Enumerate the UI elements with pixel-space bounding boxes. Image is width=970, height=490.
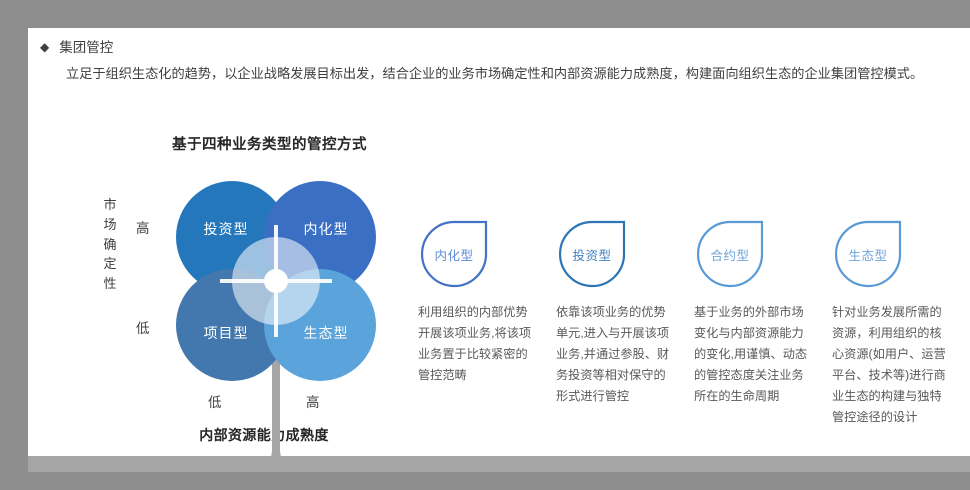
type-card[interactable]: 合约型 基于业务的外部市场变化与内部资源能力的变化,用谨慎、动态的管控态度关注业… [686,218,812,428]
quadrant-chart: 基于四种业务类型的管控方式 市场确定性 高 低 低 高 内部资源能力成熟度 投资… [88,133,408,468]
teardrop-badge[interactable]: 生态型 [832,218,904,290]
x-axis-label: 内部资源能力成熟度 [154,425,374,445]
x-tick-low: 低 [208,391,222,411]
section-heading: ◆ 集团管控 [40,38,952,58]
type-card-description: 利用组织的内部优势开展该项业务,将该项业务置于比较紧密的管控范畴 [418,302,536,386]
teardrop-badge[interactable]: 内化型 [418,218,490,290]
quadrant-label-tl: 投资型 [204,219,249,239]
section-heading-label: 集团管控 [59,38,113,58]
center-hub [264,269,288,293]
quadrant-flower: 投资型 内化型 项目型 生态型 [176,181,376,381]
quadrant-label-tr: 内化型 [304,219,349,239]
type-card[interactable]: 投资型 依靠该项业务的优势单元,进入与开展该项业务,并通过参股、财务投资等相对保… [548,218,674,428]
type-card-description: 依靠该项业务的优势单元,进入与开展该项业务,并通过参股、财务投资等相对保守的形式… [556,302,674,407]
quadrant-label-bl: 项目型 [204,323,249,343]
chart-title: 基于四种业务类型的管控方式 [172,133,412,154]
slide-floor-band [28,456,970,472]
slide-canvas: ◆ 集团管控 立足于组织生态化的趋势，以企业战略发展目标出发，结合企业的业务市场… [0,0,970,490]
type-card[interactable]: 内化型 利用组织的内部优势开展该项业务,将该项业务置于比较紧密的管控范畴 [410,218,536,428]
type-card-description: 基于业务的外部市场变化与内部资源能力的变化,用谨慎、动态的管控态度关注业务所在的… [694,302,812,407]
teardrop-label: 生态型 [832,218,904,290]
type-card[interactable]: 生态型 针对业务发展所需的资源，利用组织的核心资源(如用户、运营平台、技术等)进… [824,218,950,428]
slide-surface: ◆ 集团管控 立足于组织生态化的趋势，以企业战略发展目标出发，结合企业的业务市场… [28,28,970,472]
diamond-bullet-icon: ◆ [40,38,49,56]
header-block: ◆ 集团管控 立足于组织生态化的趋势，以企业战略发展目标出发，结合企业的业务市场… [40,38,952,86]
teardrop-label: 内化型 [418,218,490,290]
x-tick-high: 高 [306,391,320,411]
y-tick-high: 高 [136,217,150,237]
y-axis-label: 市场确定性 [102,195,118,294]
y-tick-low: 低 [136,317,150,337]
section-body-text: 立足于组织生态化的趋势，以企业战略发展目标出发，结合企业的业务市场确定性和内部资… [40,62,952,86]
teardrop-label: 合约型 [694,218,766,290]
teardrop-badge[interactable]: 投资型 [556,218,628,290]
quadrant-label-br: 生态型 [304,323,349,343]
teardrop-label: 投资型 [556,218,628,290]
type-card-list: 内化型 利用组织的内部优势开展该项业务,将该项业务置于比较紧密的管控范畴 投资型… [410,218,956,428]
type-card-description: 针对业务发展所需的资源，利用组织的核心资源(如用户、运营平台、技术等)进行商业生… [832,302,950,428]
teardrop-badge[interactable]: 合约型 [694,218,766,290]
